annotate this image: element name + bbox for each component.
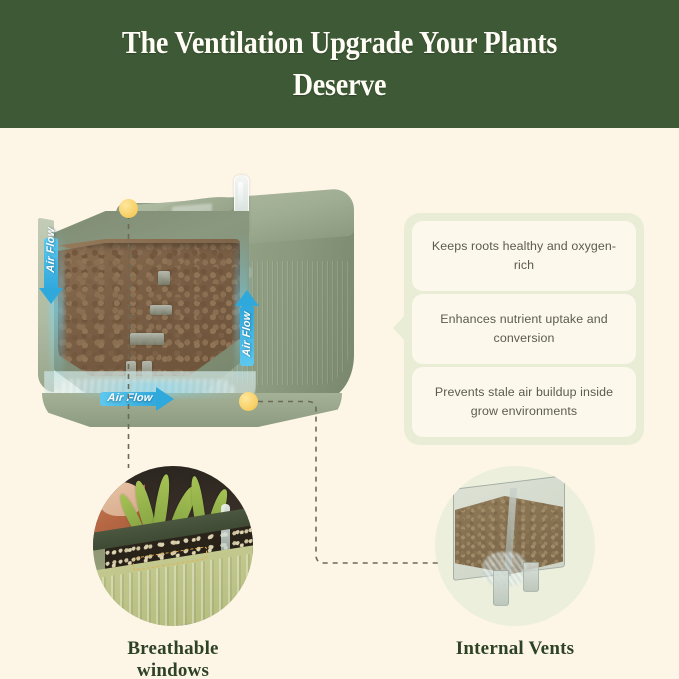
feature-card-text: Prevents stale air buildup inside grow e…: [428, 383, 620, 421]
airflow-arrow-right: Air Flow: [236, 288, 258, 366]
hotspot-marker-vents[interactable]: [239, 392, 258, 411]
feature-card: Keeps roots healthy and oxygen-rich: [412, 221, 636, 291]
airflow-arrow-bottom: Air Flow: [100, 388, 176, 410]
arrow-head-up-icon: [235, 290, 259, 306]
detail-internal-vents: Internal Vents: [435, 466, 595, 660]
feature-card: Prevents stale air buildup inside grow e…: [412, 367, 636, 437]
detail-caption: Breathable windows: [93, 638, 253, 679]
infographic-page: The Ventilation Upgrade Your Plants Dese…: [0, 0, 679, 679]
feature-card-text: Keeps roots healthy and oxygen-rich: [428, 237, 620, 275]
airflow-label: Air Flow: [241, 309, 253, 358]
arrow-head-right-icon: [156, 387, 174, 411]
detail-photo-internal-vents: [435, 466, 595, 626]
internal-vent-leg: [523, 562, 539, 592]
internal-vent-post: [158, 271, 170, 285]
feature-card: Enhances nutrient uptake and conversion: [412, 294, 636, 364]
internal-vent-post: [130, 333, 164, 345]
panel-pointer-icon: [393, 315, 405, 341]
airflow-label: Air Flow: [45, 225, 57, 274]
airflow-arrow-left: Air Flow: [40, 238, 62, 310]
internal-vent-leg: [493, 570, 509, 606]
product-cutaway-illustration: [30, 175, 390, 435]
detail-breathable-windows: Breathable windows: [93, 466, 253, 679]
internal-vent-post: [150, 305, 172, 315]
page-title: The Ventilation Upgrade Your Plants Dese…: [41, 22, 639, 105]
detail-caption: Internal Vents: [435, 638, 595, 660]
detail-photo-breathable-windows: [93, 466, 253, 626]
hotspot-marker-windows[interactable]: [119, 199, 138, 218]
airflow-label: Air Flow: [101, 392, 158, 404]
header-banner: The Ventilation Upgrade Your Plants Dese…: [0, 0, 679, 128]
feature-card-text: Enhances nutrient uptake and conversion: [428, 310, 620, 348]
feature-benefits-panel: Keeps roots healthy and oxygen-rich Enha…: [404, 213, 644, 445]
planter-base: [42, 393, 342, 427]
soil-mass: [58, 243, 240, 376]
arrow-head-down-icon: [39, 288, 63, 304]
